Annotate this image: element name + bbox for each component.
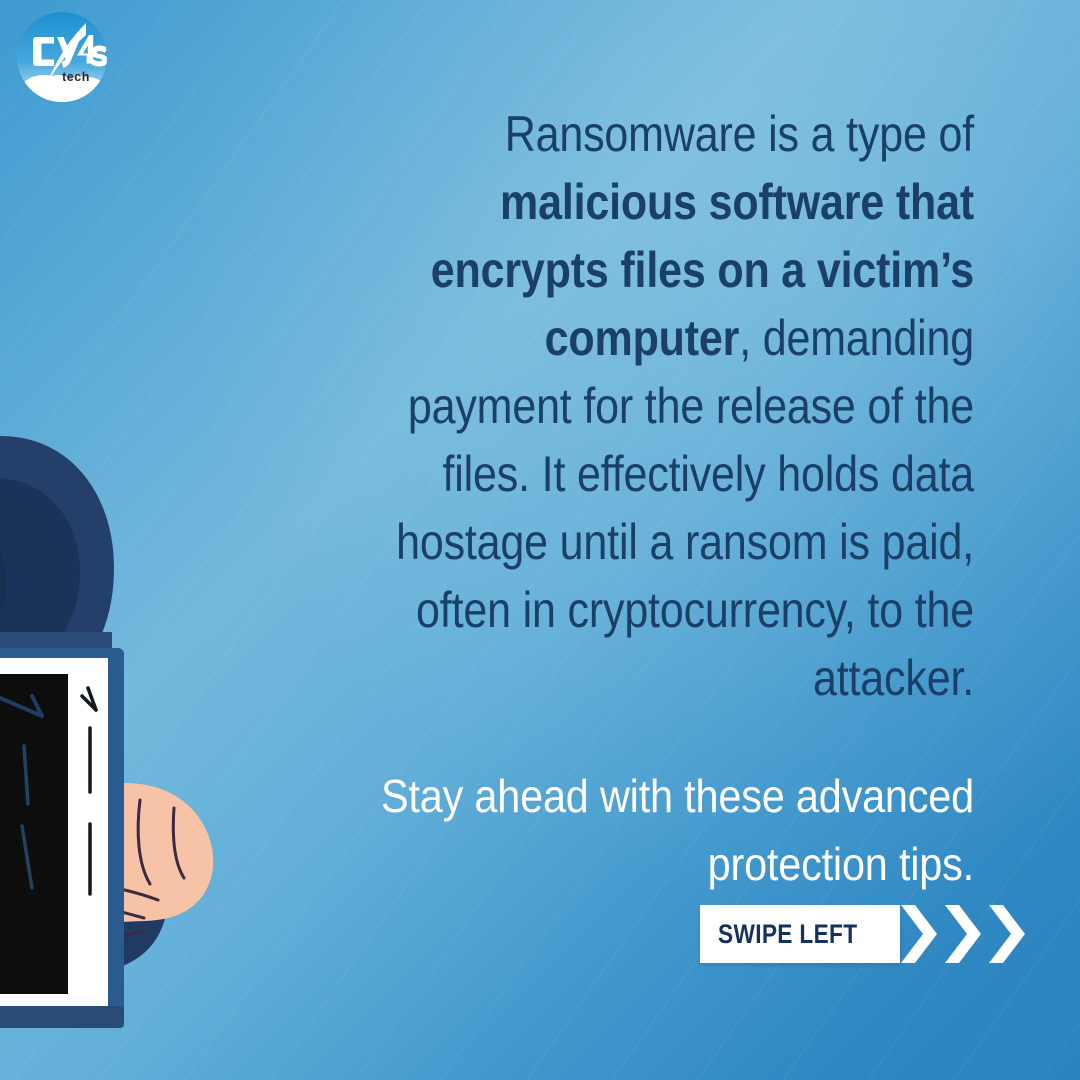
desktop-monitor [0,632,124,1028]
swipe-left-plate[interactable]: SWIPE LEFT [700,905,900,963]
brand-logo[interactable]: tech [14,9,110,105]
chevron-right-icon[interactable] [987,905,1025,963]
paragraph-part-1: Ransomware is a type of [505,106,974,162]
hacker-illustration-svg [0,296,282,1080]
chevron-right-icon[interactable] [899,905,937,963]
swipe-left-label: SWIPE LEFT [718,919,857,950]
chevron-right-icon[interactable] [943,905,981,963]
svg-text:tech: tech [62,70,90,84]
body-paragraph: Ransomware is a type of malicious softwa… [372,100,974,712]
hacker-illustration [0,296,282,1080]
social-card-canvas: tech [0,0,1080,1080]
paragraph-part-2: , demanding payment for the release of t… [396,310,974,706]
tagline-text: Stay ahead with these advanced protectio… [344,762,974,898]
cy4s-tech-logo-icon: tech [14,9,110,105]
swipe-left-cta[interactable]: SWIPE LEFT [700,905,1025,963]
copy-block: Ransomware is a type of malicious softwa… [274,100,974,898]
